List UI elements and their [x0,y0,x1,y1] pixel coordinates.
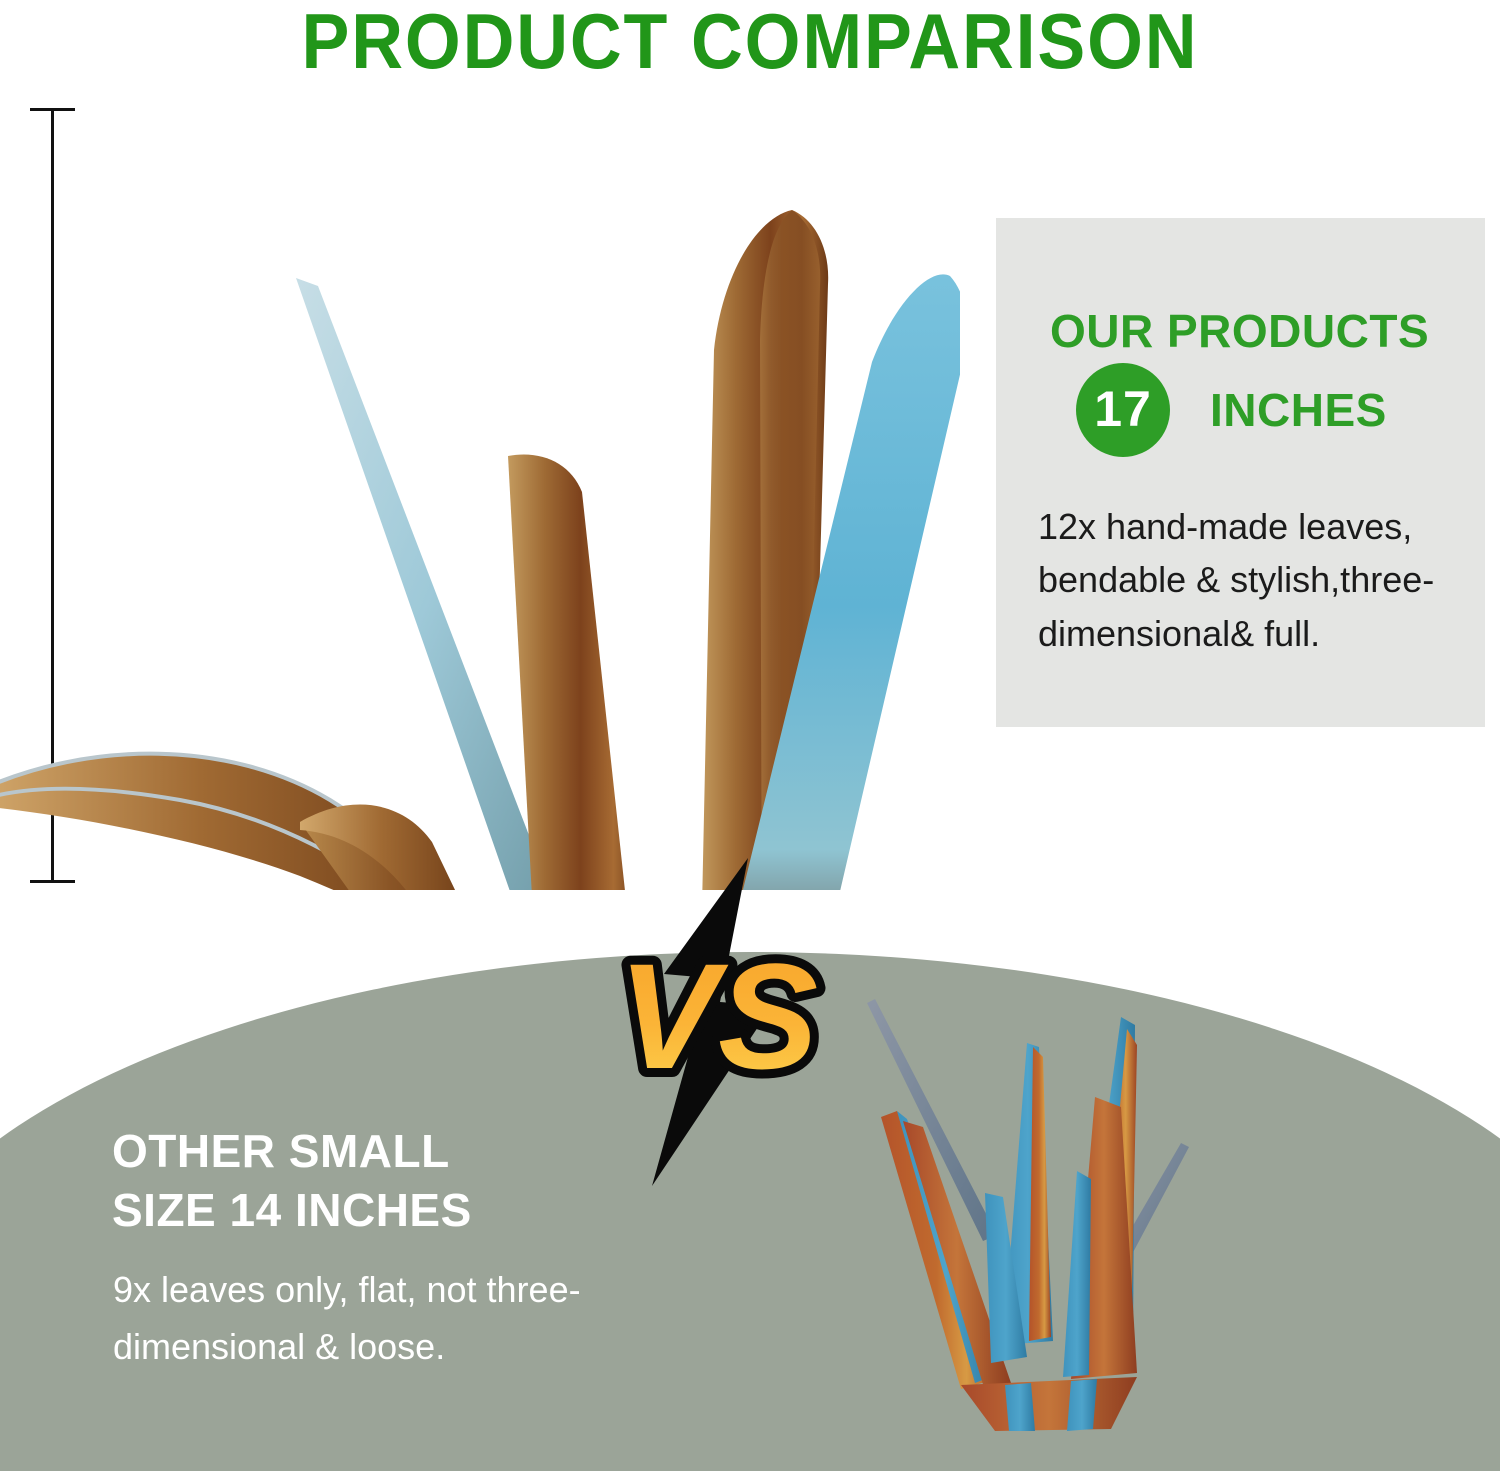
comp-leaf-teal-right-stripe [1063,1171,1091,1377]
agave-sculpture-17inch-svg [0,100,960,890]
versus-badge-svg: VS VS [600,856,840,1196]
versus-badge: VS VS [600,856,840,1196]
size-unit-label: INCHES [1210,383,1387,437]
product-comparison-infographic: PRODUCT COMPARISON 17INCH [0,0,1500,1471]
competitor-product-image [845,985,1225,1435]
agave-sculpture-14inch-svg [845,985,1225,1435]
comp-base-stripe-right [1067,1379,1097,1431]
our-product-description: 12x hand-made leaves, bendable & stylish… [1038,500,1456,660]
main-product-image [0,100,960,890]
our-products-heading: OUR PRODUCTS [1050,304,1470,358]
comp-base-stripe-left [1005,1383,1035,1431]
page-title: PRODUCT COMPARISON [60,0,1440,87]
leaf-rust-center-left [508,455,640,891]
size-badge-circle: 17 [1076,363,1170,457]
comp-base-band [961,1377,1137,1431]
other-product-heading-line2: SIZE 14 INCHES [112,1181,672,1240]
other-product-heading: OTHER SMALL SIZE 14 INCHES [112,1122,672,1240]
other-product-description: 9x leaves only, flat, not three-dimensio… [113,1262,653,1376]
our-product-info-card: OUR PRODUCTS 17 INCHES 12x hand-made lea… [996,218,1485,727]
other-product-heading-line1: OTHER SMALL [112,1122,672,1181]
size-badge-row: 17 INCHES [1076,363,1387,457]
versus-label: VS [618,932,818,1100]
